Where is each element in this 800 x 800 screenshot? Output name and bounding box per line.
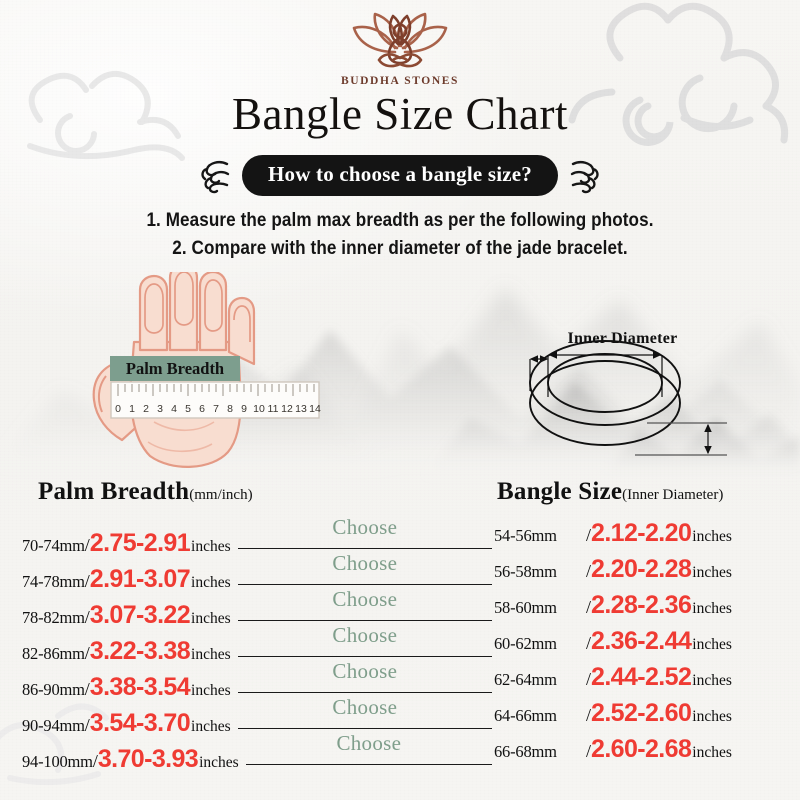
table-row: 86-90mm/3.38-3.54inchesChoose [22, 665, 492, 701]
mm-range-value: 62-64mm [494, 670, 586, 690]
inch-unit-label: inches [692, 564, 732, 582]
svg-text:11: 11 [268, 403, 279, 415]
inch-unit-label: inches [692, 600, 732, 618]
choose-underline [238, 728, 492, 729]
svg-text:4: 4 [171, 403, 177, 415]
choose-underline [238, 656, 492, 657]
table-row: 94-100mm/3.70-3.93inchesChoose [22, 737, 492, 773]
section-subtitle-right: (Inner Diameter) [622, 487, 723, 503]
choose-underline [238, 584, 492, 585]
section-header-palm-breadth: Palm Breadth(mm/inch) [38, 478, 253, 506]
svg-text:2: 2 [143, 403, 149, 415]
choose-underline [238, 548, 492, 549]
brand-name: BUDDHA STONES [341, 75, 459, 87]
svg-text:12: 12 [281, 403, 293, 415]
table-row: 56-58mm/2.20-2.28inches [494, 557, 794, 593]
choose-field[interactable]: Choose [238, 557, 492, 587]
svg-text:1: 1 [129, 403, 135, 415]
inch-range-value: 2.60-2.68 [591, 737, 691, 762]
instruction-steps: 1. Measure the palm max breadth as per t… [0, 207, 800, 263]
table-row: 78-82mm/3.07-3.22inchesChoose [22, 593, 492, 629]
mm-range-value: 58-60mm [494, 598, 586, 618]
table-row: 58-60mm/2.28-2.36inches [494, 593, 794, 629]
inch-range-value: 2.12-2.20 [591, 521, 691, 546]
table-row: 54-56mm/2.12-2.20inches [494, 521, 794, 557]
choose-label[interactable]: Choose [332, 659, 397, 684]
inch-unit-label: inches [191, 646, 231, 664]
inch-range-value: 2.20-2.28 [591, 557, 691, 582]
palm-breadth-badge-label: Palm Breadth [126, 359, 224, 378]
hand-palm-measuring-illustration: Palm Breadth 012 345 678 91011 121314 [88, 272, 338, 472]
table-row: 60-62mm/2.36-2.44inches [494, 629, 794, 665]
inch-range-value: 2.28-2.36 [591, 593, 691, 618]
inch-range-value: 3.07-3.22 [90, 603, 190, 628]
mm-range-value: 64-66mm [494, 706, 586, 726]
inch-unit-label: inches [191, 718, 231, 736]
svg-text:6: 6 [199, 403, 205, 415]
choose-underline [246, 764, 492, 765]
brand-logo: BUDDHA STONES [0, 8, 800, 87]
choose-field[interactable]: Choose [238, 521, 492, 551]
page-title: Bangle Size Chart [0, 92, 800, 137]
table-row: 74-78mm/2.91-3.07inchesChoose [22, 557, 492, 593]
mm-range-value: 78-82mm [22, 608, 85, 628]
bangle-size-chart-page: BUDDHA STONES Bangle Size Chart How to c… [0, 0, 800, 800]
inch-unit-label: inches [692, 744, 732, 762]
banner-row: How to choose a bangle size? [0, 155, 800, 196]
choose-field[interactable]: Choose [238, 593, 492, 623]
mm-range-value: 74-78mm [22, 572, 85, 592]
choose-label[interactable]: Choose [336, 731, 401, 756]
inch-range-value: 3.70-3.93 [98, 747, 198, 772]
instruction-step-2: 2. Compare with the inner diameter of th… [40, 235, 760, 263]
choose-underline [238, 620, 492, 621]
inch-range-value: 2.44-2.52 [591, 665, 691, 690]
inch-range-value: 3.54-3.70 [90, 711, 190, 736]
lotus-meditation-figure-icon [335, 8, 465, 74]
section-header-bangle-size: Bangle Size(Inner Diameter) [497, 478, 723, 506]
inch-unit-label: inches [199, 754, 239, 772]
bangle-size-table: 54-56mm/2.12-2.20inches56-58mm/2.20-2.28… [494, 521, 794, 773]
svg-text:9: 9 [241, 403, 247, 415]
table-row: 64-66mm/2.52-2.60inches [494, 701, 794, 737]
mm-range-value: 86-90mm [22, 680, 85, 700]
cloud-swirl-ornament-icon-right [569, 157, 601, 195]
mm-range-value: 56-58mm [494, 562, 586, 582]
bangle-inner-diameter-illustration [495, 325, 750, 475]
svg-text:5: 5 [185, 403, 191, 415]
cloud-swirl-ornament-icon-left [199, 157, 231, 195]
inch-range-value: 3.38-3.54 [90, 675, 190, 700]
inch-unit-label: inches [692, 708, 732, 726]
svg-text:8: 8 [227, 403, 233, 415]
mm-range-value: 60-62mm [494, 634, 586, 654]
choose-field[interactable]: Choose [246, 737, 492, 767]
mm-range-value: 94-100mm [22, 752, 93, 772]
svg-text:13: 13 [295, 403, 307, 415]
svg-text:14: 14 [309, 403, 321, 415]
inch-range-value: 2.75-2.91 [90, 531, 190, 556]
choose-label[interactable]: Choose [332, 695, 397, 720]
table-row: 66-68mm/2.60-2.68inches [494, 737, 794, 773]
table-row: 82-86mm/3.22-3.38inchesChoose [22, 629, 492, 665]
svg-text:10: 10 [253, 403, 265, 415]
choose-field[interactable]: Choose [238, 701, 492, 731]
inch-range-value: 3.22-3.38 [90, 639, 190, 664]
mm-range-value: 82-86mm [22, 644, 85, 664]
choose-field[interactable]: Choose [238, 629, 492, 659]
choose-underline [238, 692, 492, 693]
instruction-step-1: 1. Measure the palm max breadth as per t… [40, 207, 760, 235]
table-row: 62-64mm/2.44-2.52inches [494, 665, 794, 701]
how-to-choose-banner: How to choose a bangle size? [242, 155, 558, 196]
choose-label[interactable]: Choose [332, 515, 397, 540]
svg-text:0: 0 [115, 403, 121, 415]
table-row: 90-94mm/3.54-3.70inchesChoose [22, 701, 492, 737]
inch-unit-label: inches [692, 636, 732, 654]
inch-unit-label: inches [191, 574, 231, 592]
svg-text:3: 3 [157, 403, 163, 415]
inch-range-value: 2.52-2.60 [591, 701, 691, 726]
inch-unit-label: inches [191, 538, 231, 556]
ruler-tick-labels: 012 345 678 91011 121314 [115, 403, 321, 415]
mm-range-value: 66-68mm [494, 742, 586, 762]
inch-unit-label: inches [191, 610, 231, 628]
inch-unit-label: inches [191, 682, 231, 700]
mm-range-value: 70-74mm [22, 536, 85, 556]
svg-text:7: 7 [213, 403, 219, 415]
table-row: 70-74mm/2.75-2.91inchesChoose [22, 521, 492, 557]
mm-range-value: 90-94mm [22, 716, 85, 736]
inch-unit-label: inches [692, 672, 732, 690]
choose-label[interactable]: Choose [332, 587, 397, 612]
inch-unit-label: inches [692, 528, 732, 546]
palm-breadth-table: 70-74mm/2.75-2.91inchesChoose74-78mm/2.9… [22, 521, 492, 773]
mm-range-value: 54-56mm [494, 526, 586, 546]
inch-range-value: 2.91-3.07 [90, 567, 190, 592]
choose-label[interactable]: Choose [332, 551, 397, 576]
inch-range-value: 2.36-2.44 [591, 629, 691, 654]
section-title-left: Palm Breadth [38, 478, 189, 505]
section-subtitle-left: (mm/inch) [189, 487, 252, 503]
section-title-right: Bangle Size [497, 478, 622, 505]
choose-field[interactable]: Choose [238, 665, 492, 695]
choose-label[interactable]: Choose [332, 623, 397, 648]
